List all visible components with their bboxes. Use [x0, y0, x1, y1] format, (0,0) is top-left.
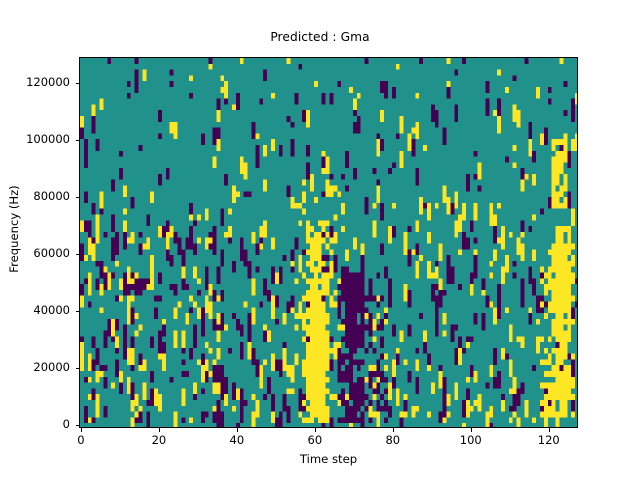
- x-tick-mark: [237, 428, 238, 432]
- y-tick-mark: [76, 368, 80, 369]
- y-tick-label: 120000: [0, 75, 70, 89]
- x-tick-label: 60: [285, 433, 345, 447]
- y-tick-mark: [76, 140, 80, 141]
- x-tick-mark: [315, 428, 316, 432]
- x-tick-label: 100: [441, 433, 501, 447]
- x-tick-label: 0: [51, 433, 111, 447]
- y-tick-mark: [76, 83, 80, 84]
- heatmap-axes: [79, 57, 578, 428]
- x-axis-label: Time step: [79, 452, 578, 466]
- page-title: Predicted : Gma: [0, 30, 640, 44]
- matplotlib-figure: Predicted : Gma 020406080100120 02000040…: [0, 0, 640, 480]
- x-tick-label: 120: [519, 433, 579, 447]
- x-tick-mark: [81, 428, 82, 432]
- x-tick-label: 20: [129, 433, 189, 447]
- x-tick-label: 40: [207, 433, 267, 447]
- y-tick-mark: [76, 425, 80, 426]
- y-tick-mark: [76, 311, 80, 312]
- x-tick-mark: [471, 428, 472, 432]
- y-tick-label: 20000: [0, 360, 70, 374]
- heatmap-canvas: [80, 58, 578, 428]
- x-tick-mark: [393, 428, 394, 432]
- x-tick-mark: [549, 428, 550, 432]
- x-tick-label: 80: [363, 433, 423, 447]
- x-tick-mark: [159, 428, 160, 432]
- y-axis-label: Frequency (Hz): [7, 119, 21, 339]
- y-tick-mark: [76, 197, 80, 198]
- y-tick-label: 0: [0, 417, 70, 431]
- y-tick-mark: [76, 254, 80, 255]
